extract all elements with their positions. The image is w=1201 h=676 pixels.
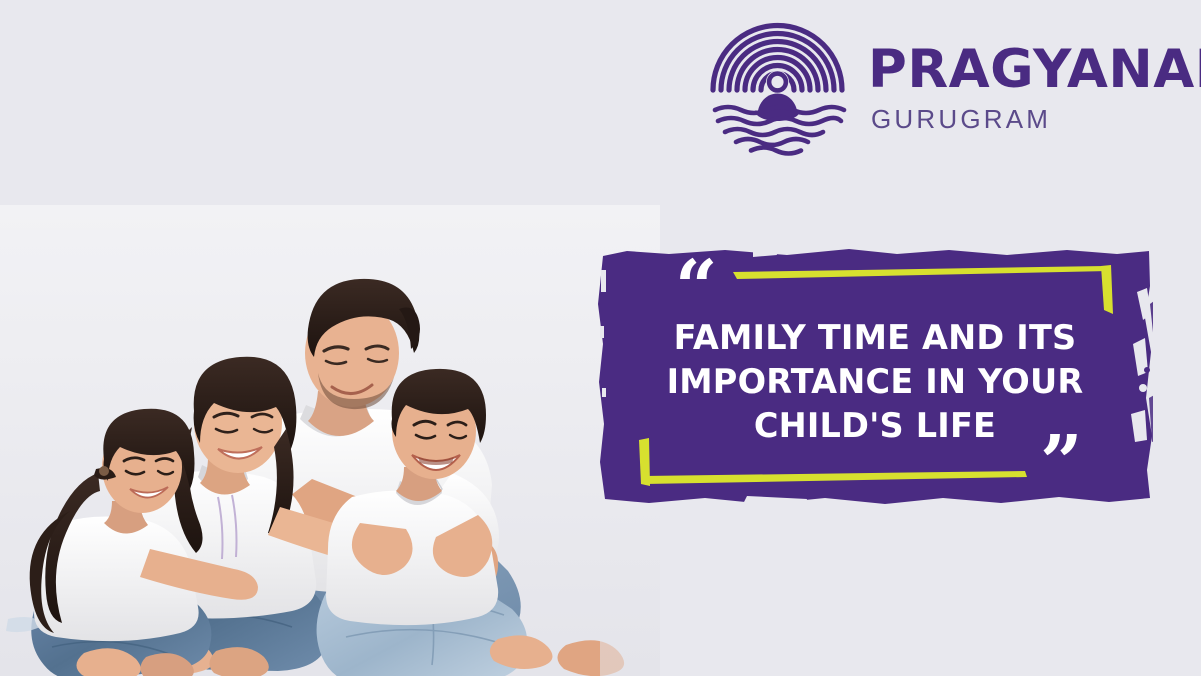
brand-wordmark: PRAGYANAM GURUGRAM	[868, 39, 1201, 132]
quote-card: “ FAMILY TIME AND ITS IMPORTANCE IN YOUR…	[597, 248, 1153, 506]
family-photo	[0, 205, 660, 676]
quote-title-line-2: IMPORTANCE IN YOUR	[637, 360, 1113, 404]
close-quote-icon: ”	[1040, 426, 1081, 500]
banner-canvas: PRAGYANAM GURUGRAM	[0, 0, 1201, 676]
open-quote-icon: “	[675, 251, 716, 325]
family-photo-illustration	[0, 205, 660, 676]
brand-logo[interactable]: PRAGYANAM GURUGRAM	[705, 14, 1201, 156]
brand-name: PRAGYANAM	[868, 43, 1201, 96]
brand-sub: GURUGRAM	[871, 106, 1201, 132]
pragyanam-mark-icon	[705, 14, 850, 156]
quote-title-line-1: FAMILY TIME AND ITS	[637, 316, 1113, 360]
